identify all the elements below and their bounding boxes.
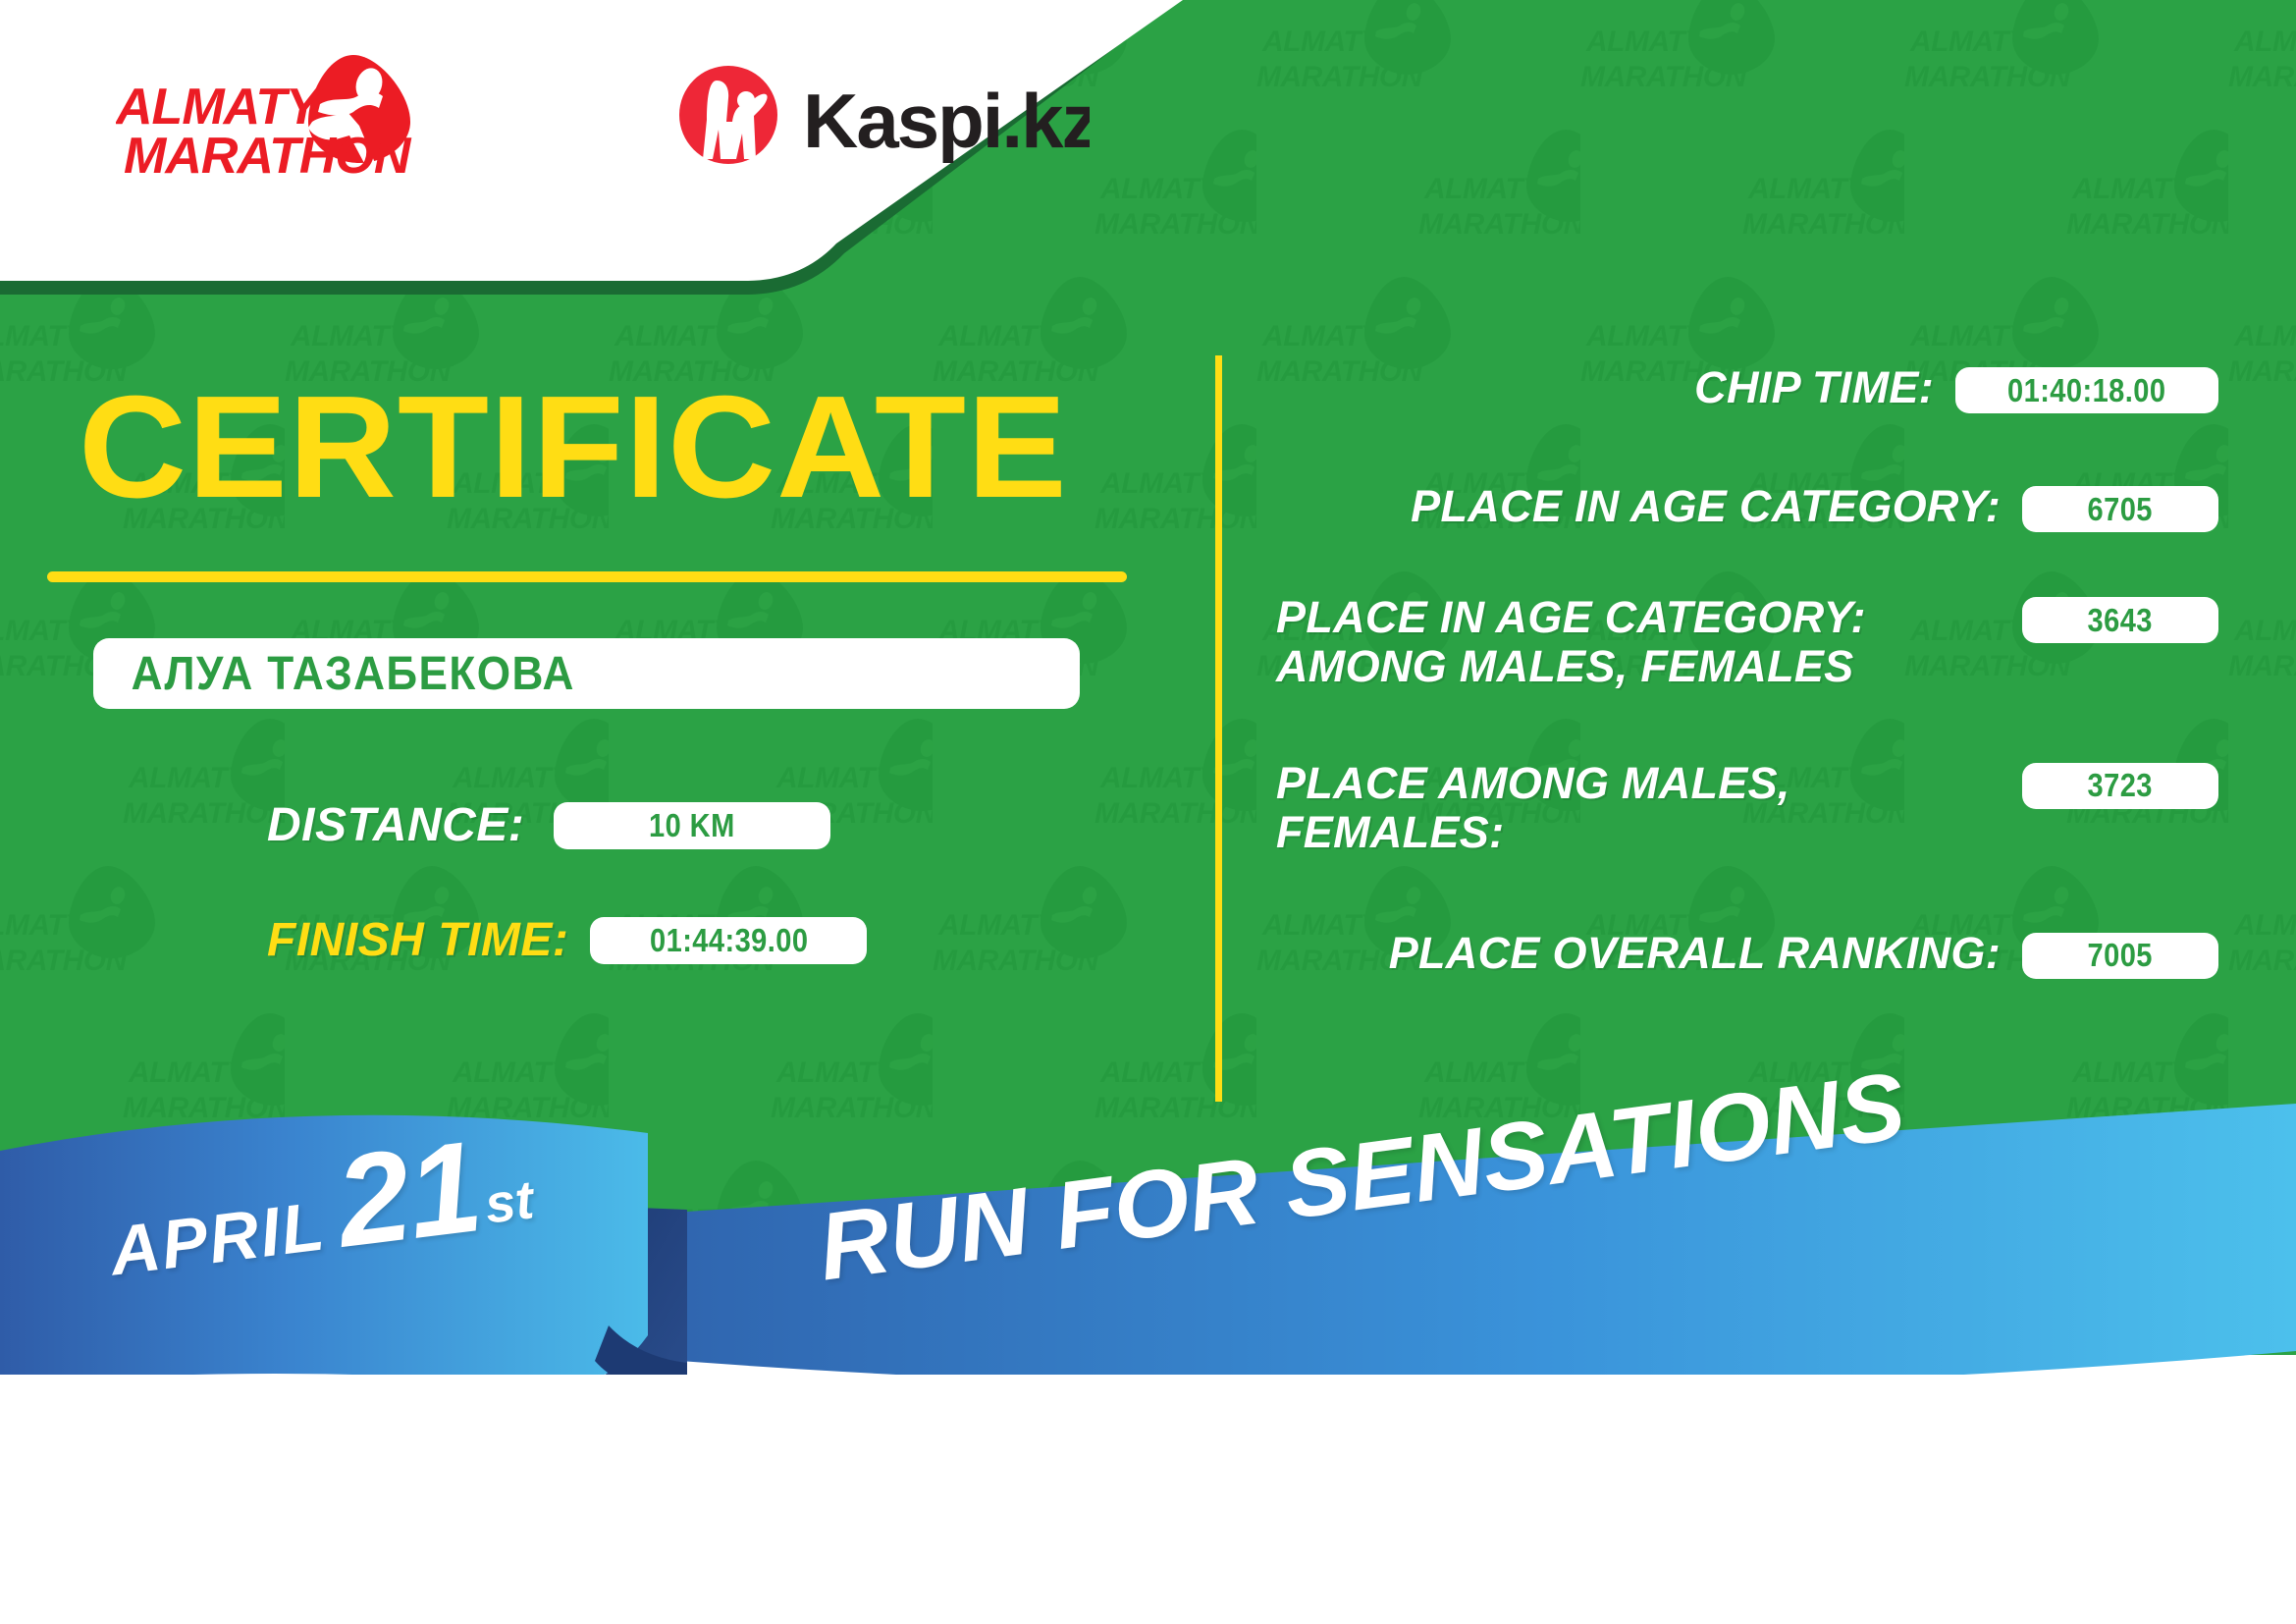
sponsor-bar — [0, 1375, 2296, 1624]
stat-value-pill: 3723 — [2022, 763, 2218, 809]
event-month: APRIL — [106, 1187, 330, 1289]
stat-label: PLACE AMONG MALES,FEMALES: — [1276, 759, 2022, 858]
distance-row: DISTANCE: 10 KM — [267, 798, 830, 852]
distance-value-pill: 10 KM — [554, 802, 830, 849]
almaty-wordmark-line2: MARATHON — [124, 128, 412, 185]
distance-value: 10 KM — [649, 807, 735, 844]
page-title: CERTIFICATE — [79, 375, 1068, 520]
stat-value-pill: 01:40:18.00 — [1955, 367, 2218, 413]
stat-label: PLACE OVERALL RANKING: — [1276, 929, 2022, 978]
event-day-suffix: st — [482, 1168, 537, 1234]
stat-row: PLACE AMONG MALES,FEMALES:3723 — [1276, 759, 2218, 858]
stat-value: 6705 — [2088, 491, 2153, 528]
participant-name-field: АЛУА ТАЗАБЕКОВА — [93, 638, 1080, 709]
distance-label: DISTANCE: — [267, 798, 524, 852]
stat-label: CHIP TIME: — [1276, 363, 1955, 412]
finish-time-value-pill: 01:44:39.00 — [590, 917, 867, 964]
stat-label: PLACE IN AGE CATEGORY:AMONG MALES, FEMAL… — [1276, 593, 2022, 692]
stat-value-pill: 6705 — [2022, 486, 2218, 532]
stat-value-pill: 3643 — [2022, 597, 2218, 643]
stat-row: PLACE IN AGE CATEGORY:AMONG MALES, FEMAL… — [1276, 593, 2218, 692]
title-underline — [47, 571, 1127, 582]
certificate-page: ALMATY MARATHON Kaspi.kz CERTIFICATE АЛУ… — [0, 0, 2296, 1624]
results-stats-list: CHIP TIME:01:40:18.00PLACE IN AGE CATEGO… — [1276, 363, 2218, 979]
almaty-marathon-logo: ALMATY MARATHON — [116, 47, 440, 185]
stat-value-pill: 7005 — [2022, 933, 2218, 979]
kaspi-wordmark: Kaspi.kz — [803, 78, 1090, 164]
stat-value: 3723 — [2088, 767, 2153, 804]
event-day: 21 — [329, 1113, 488, 1274]
stat-label: PLACE IN AGE CATEGORY: — [1276, 482, 2022, 531]
stat-row: PLACE IN AGE CATEGORY:6705 — [1276, 482, 2218, 532]
kaspi-logo: Kaspi.kz — [677, 61, 1090, 169]
finish-time-label: FINISH TIME: — [267, 913, 568, 967]
stat-row: PLACE OVERALL RANKING:7005 — [1276, 929, 2218, 979]
participant-name: АЛУА ТАЗАБЕКОВА — [93, 647, 575, 701]
finish-time-row: FINISH TIME: 01:44:39.00 — [267, 913, 867, 967]
stat-value: 01:40:18.00 — [2007, 372, 2165, 409]
stat-row: CHIP TIME:01:40:18.00 — [1276, 363, 2218, 413]
column-divider — [1215, 355, 1222, 1102]
stat-value: 3643 — [2088, 602, 2153, 639]
stat-value: 7005 — [2088, 937, 2153, 974]
finish-time-value: 01:44:39.00 — [650, 922, 808, 959]
